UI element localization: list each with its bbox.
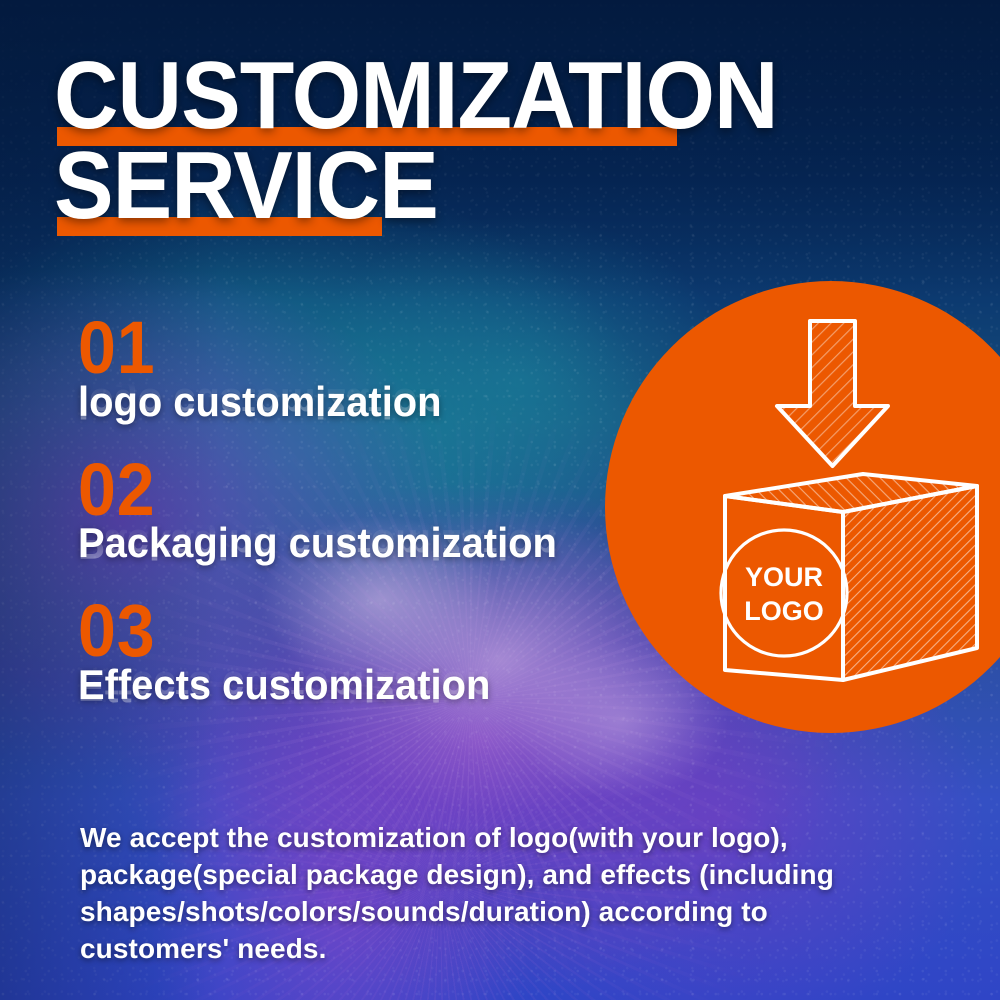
page-title-line-1: CUSTOMIZATION [54,52,778,140]
badge-illustration: YOUR LOGO [605,281,1000,733]
down-arrow-icon [777,321,888,466]
service-label-02: Packaging customization [78,522,667,565]
headline-block: CUSTOMIZATION SERVICE [54,44,754,238]
body-copy: We accept the customization of logo(with… [80,820,850,968]
logo-placeholder-line-1: YOUR [745,562,823,592]
service-label-03: Effects customization [78,664,667,707]
service-number-02: 02 [78,460,648,521]
logo-circle-icon [721,530,847,656]
title-row-secondary: SERVICE [54,142,754,238]
service-label-01: logo customization [78,381,667,424]
orange-circle-badge: YOUR LOGO [605,281,1000,733]
page-title-line-2: SERVICE [54,142,438,230]
logo-placeholder-line-2: LOGO [744,596,824,626]
promo-poster: CUSTOMIZATION SERVICE 01 logo customizat… [0,0,1000,1000]
service-number-01: 01 [78,318,648,379]
service-number-03: 03 [78,601,648,662]
